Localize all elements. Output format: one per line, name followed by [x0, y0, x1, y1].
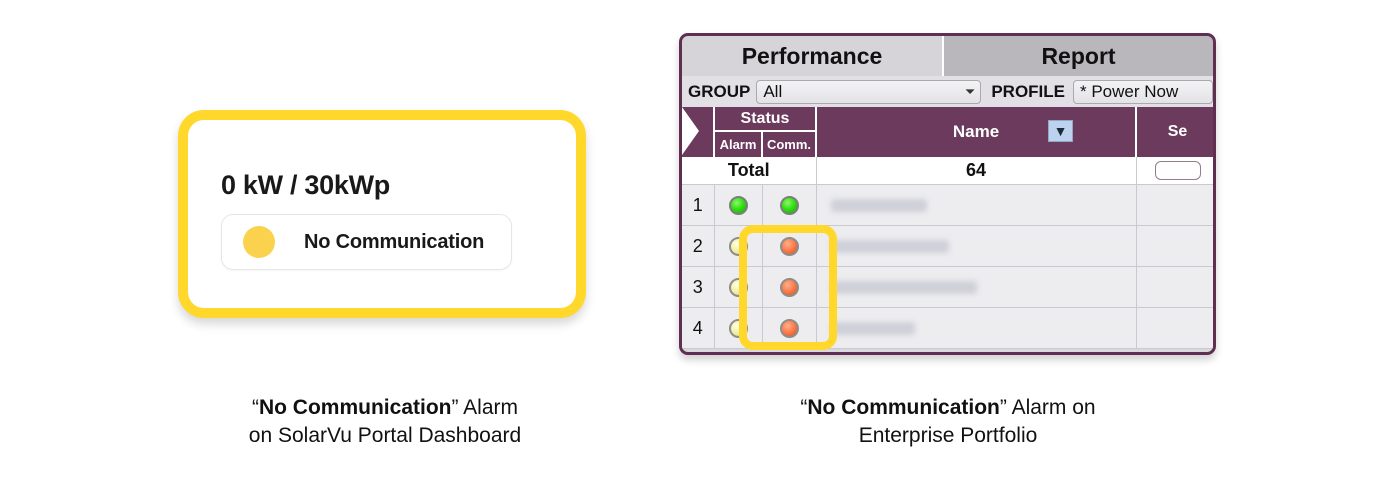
- portfolio-table: Status Name ▼ Se Alarm Comm. Total641234: [682, 107, 1216, 349]
- comm-status-cell: [762, 226, 816, 267]
- comm-status-cell: [762, 185, 816, 226]
- select-column-header: Se: [1136, 107, 1216, 157]
- group-label: GROUP: [688, 82, 750, 102]
- name-column-label: Name: [953, 122, 999, 141]
- alarm-status-cell: [714, 308, 762, 349]
- enterprise-portfolio-panel: Performance Report GROUP All ⏷ PROFILE *…: [679, 33, 1216, 355]
- site-name-redacted: [831, 199, 927, 212]
- alarm-led-yellow-icon: [729, 237, 748, 256]
- comm-led-orange-icon: [780, 278, 799, 297]
- index-column-header[interactable]: [682, 107, 714, 157]
- total-row: Total64: [682, 157, 1216, 185]
- status-pill-label: No Communication: [304, 231, 484, 254]
- alarm-subcolumn-header: Alarm: [714, 131, 762, 157]
- row-index: 2: [682, 226, 714, 267]
- alarm-led-green-icon: [729, 196, 748, 215]
- table-row[interactable]: 2: [682, 226, 1216, 267]
- status-pill[interactable]: No Communication: [221, 214, 512, 270]
- table-row[interactable]: 4: [682, 308, 1216, 349]
- table-row[interactable]: 3: [682, 267, 1216, 308]
- dashboard-card: 0 kW / 30kWp No Communication: [178, 110, 586, 318]
- row-index: 4: [682, 308, 714, 349]
- table-header-row: Status Name ▼ Se: [682, 107, 1216, 131]
- name-column-header[interactable]: Name ▼: [816, 107, 1136, 157]
- alarm-status-cell: [714, 267, 762, 308]
- caption-left-suffix: Alarm: [458, 396, 518, 419]
- total-select-input[interactable]: [1155, 161, 1201, 180]
- caption-right-line2: Enterprise Portfolio: [859, 424, 1038, 447]
- total-count: 64: [816, 157, 1136, 185]
- solarvu-dashboard-panel: 0 kW / 30kWp No Communication: [178, 110, 586, 318]
- site-name-redacted: [831, 322, 915, 335]
- group-select-value: All: [763, 82, 782, 102]
- tab-performance[interactable]: Performance: [682, 36, 944, 76]
- alarm-status-cell: [714, 226, 762, 267]
- select-cell[interactable]: [1136, 267, 1216, 308]
- table-row[interactable]: 1: [682, 185, 1216, 226]
- comm-led-orange-icon: [780, 319, 799, 338]
- select-cell[interactable]: [1136, 185, 1216, 226]
- select-cell[interactable]: [1136, 308, 1216, 349]
- comm-status-cell: [762, 267, 816, 308]
- caption-right: “No Communication” Alarm on Enterprise P…: [713, 394, 1183, 449]
- status-column-header: Status: [714, 107, 816, 131]
- comm-led-green-icon: [780, 196, 799, 215]
- total-select-cell[interactable]: [1136, 157, 1216, 185]
- caption-right-line1: “No Communication” Alarm on: [800, 396, 1095, 419]
- filter-bar: GROUP All ⏷ PROFILE * Power Now: [682, 76, 1213, 107]
- total-label: Total: [682, 157, 816, 185]
- caption-left: “No Communication” Alarm on SolarVu Port…: [150, 394, 620, 449]
- site-name-cell[interactable]: [816, 185, 1136, 226]
- comm-subcolumn-header: Comm.: [762, 131, 816, 157]
- profile-select-value: * Power Now: [1080, 82, 1178, 102]
- row-index: 1: [682, 185, 714, 226]
- caption-left-line2: on SolarVu Portal Dashboard: [249, 424, 521, 447]
- expand-arrow-icon: [682, 107, 699, 155]
- alarm-status-cell: [714, 185, 762, 226]
- group-select[interactable]: All ⏷: [756, 80, 981, 104]
- name-sort-dropdown-icon[interactable]: ▼: [1048, 120, 1073, 142]
- profile-label: PROFILE: [991, 82, 1065, 102]
- select-cell[interactable]: [1136, 226, 1216, 267]
- alarm-led-yellow-icon: [729, 319, 748, 338]
- row-index: 3: [682, 267, 714, 308]
- tab-report[interactable]: Report: [944, 36, 1213, 76]
- caption-left-line1: “No Communication” Alarm: [252, 396, 518, 419]
- portfolio-window: Performance Report GROUP All ⏷ PROFILE *…: [679, 33, 1216, 355]
- site-name-cell[interactable]: [816, 308, 1136, 349]
- power-readout: 0 kW / 30kWp: [221, 170, 390, 201]
- chevron-down-icon: ⏷: [965, 84, 975, 100]
- site-name-redacted: [831, 281, 977, 294]
- comm-led-orange-icon: [780, 237, 799, 256]
- comm-status-cell: [762, 308, 816, 349]
- caption-right-quoted: No Communication: [807, 396, 1000, 419]
- caption-left-quoted: No Communication: [259, 396, 452, 419]
- site-name-redacted: [831, 240, 949, 253]
- profile-select[interactable]: * Power Now: [1073, 80, 1213, 104]
- status-indicator-dot: [243, 226, 275, 258]
- caption-right-suffix: Alarm on: [1007, 396, 1096, 419]
- alarm-led-yellow-icon: [729, 278, 748, 297]
- tab-strip: Performance Report: [682, 36, 1213, 76]
- table-body: Total641234: [682, 157, 1216, 349]
- site-name-cell[interactable]: [816, 267, 1136, 308]
- site-name-cell[interactable]: [816, 226, 1136, 267]
